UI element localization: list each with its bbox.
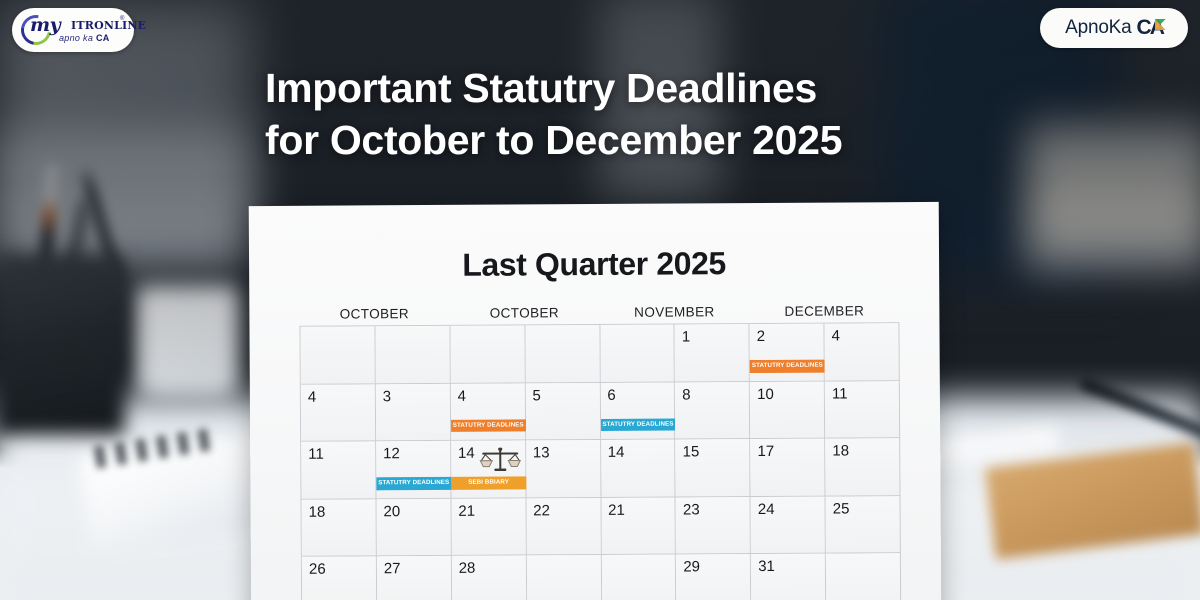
calendar-day-cell[interactable]: 23 [676, 497, 751, 555]
calendar-day-number: 4 [832, 328, 840, 345]
calendar-week-row: 12STATUTRY DEADLINES4 [300, 323, 899, 384]
logo-word-my: my [30, 14, 60, 36]
calendar-month-header: OCTOBER [299, 306, 449, 322]
calendar-day-number: 26 [309, 561, 326, 578]
calendar-day-cell[interactable]: 26 [302, 556, 377, 600]
calendar-day-number: 14 [608, 444, 625, 461]
calendar-day-number: 15 [683, 443, 700, 460]
page-title-line-1: Important Statutry Deadlines [265, 62, 965, 114]
calendar-day-cell[interactable]: 17 [750, 439, 825, 497]
calendar-day-cell[interactable] [525, 325, 600, 383]
calendar-month-header: NOVEMBER [599, 304, 749, 320]
page-title-line-2: for October to December 2025 [265, 114, 965, 166]
calendar-day-number: 1 [682, 328, 690, 345]
calendar-week-row: 434STATUTRY DEADLINES56STATUTRY DEADLINE… [301, 381, 900, 442]
calendar-day-number: 31 [758, 558, 775, 575]
calendar-day-cell[interactable]: 5 [525, 382, 600, 440]
deadline-badge[interactable]: STATUTRY DEADLINES [750, 360, 825, 373]
calendar-day-cell[interactable]: 4STATUTRY DEADLINES [451, 383, 526, 441]
myitronline-logo[interactable]: my ITRONLINE ® apno ka CA [12, 8, 134, 52]
calendar-day-number: 25 [833, 500, 850, 517]
calendar-day-cell[interactable]: 2STATUTRY DEADLINES [750, 324, 825, 382]
calendar-grid: 12STATUTRY DEADLINES4434STATUTRY DEADLIN… [299, 322, 901, 600]
calendar-day-cell[interactable]: 28 [452, 555, 527, 600]
calendar-day-number: 18 [309, 503, 326, 520]
calendar-day-number: 24 [758, 500, 775, 517]
calendar-day-cell[interactable]: 8 [675, 382, 750, 440]
logo-tagline: apno ka CA [59, 33, 110, 43]
calendar-day-number: 21 [608, 501, 625, 518]
calendar-day-cell[interactable]: 21 [601, 497, 676, 555]
calendar-day-cell[interactable] [450, 325, 525, 383]
calendar-day-number: 4 [458, 387, 466, 404]
calendar-day-cell[interactable]: 11 [301, 441, 376, 499]
calendar-day-number: 6 [607, 386, 615, 403]
calendar-day-number: 11 [308, 446, 324, 463]
calendar-day-cell[interactable]: 18 [825, 438, 900, 496]
registered-mark-icon: ® [120, 16, 124, 22]
calendar-day-cell[interactable] [375, 326, 450, 384]
calendar-day-number: 2 [757, 328, 765, 345]
calendar-day-cell[interactable]: 21 [451, 498, 526, 556]
page-title: Important Statutry Deadlines for October… [265, 62, 965, 167]
calendar-day-cell[interactable]: 6STATUTRY DEADLINES [600, 382, 675, 440]
calendar-day-number: 22 [533, 502, 550, 519]
calendar-day-cell[interactable]: 27 [377, 556, 452, 600]
apnokaca-ca-monogram-icon: CA [1137, 16, 1163, 40]
calendar-day-cell[interactable]: 4 [825, 323, 900, 381]
logo-tagline-ca: CA [96, 33, 110, 43]
calendar-day-number: 20 [383, 503, 400, 520]
calendar-day-cell[interactable] [601, 555, 676, 600]
deadline-badge[interactable]: STATUTRY DEADLINES [376, 477, 451, 490]
calendar-day-number: 18 [832, 442, 849, 459]
calendar-day-cell[interactable] [300, 326, 375, 384]
calendar-day-number: 14 [458, 445, 475, 462]
calendar-day-number: 12 [383, 445, 400, 462]
calendar-day-number: 23 [683, 501, 700, 518]
calendar-day-cell[interactable] [600, 325, 675, 383]
logo-tagline-prefix: apno ka [59, 33, 96, 43]
calendar-day-cell[interactable]: 1 [675, 324, 750, 382]
calendar-day-cell[interactable]: 3 [376, 383, 451, 441]
calendar-day-number: 29 [683, 558, 700, 575]
calendar-day-cell[interactable]: 29 [676, 554, 751, 600]
deadline-badge[interactable]: STATUTRY DEADLINES [451, 419, 526, 432]
calendar-month-header: OCTOBER [449, 305, 599, 321]
calendar-month-header: DECEMBER [749, 303, 899, 319]
deadline-badge[interactable]: STATUTRY DEADLINES [601, 418, 676, 431]
calendar-week-row: 1112STATUTRY DEADLINES14SEBI BBIARY13141… [301, 438, 900, 499]
calendar-day-cell[interactable]: 25 [826, 496, 901, 554]
calendar-day-cell[interactable]: 14 [601, 440, 676, 498]
calendar-day-cell[interactable]: 11 [825, 381, 900, 439]
calendar-day-number: 21 [458, 502, 475, 519]
calendar-day-cell[interactable]: 31 [751, 554, 826, 600]
calendar-day-number: 3 [383, 388, 391, 405]
calendar-title: Last Quarter 2025 [249, 244, 939, 285]
calendar-day-cell[interactable]: 24 [751, 496, 826, 554]
calendar-day-cell[interactable]: 13 [526, 440, 601, 498]
calendar-day-cell[interactable]: 15 [676, 439, 751, 497]
calendar-card: Last Quarter 2025 OCTOBEROCTOBERNOVEMBER… [249, 202, 942, 600]
calendar-day-cell[interactable] [826, 553, 901, 600]
calendar-day-number: 4 [308, 388, 316, 405]
calendar-day-cell[interactable]: 18 [302, 499, 377, 557]
calendar-day-number: 8 [682, 386, 690, 403]
calendar-day-number: 28 [459, 560, 476, 577]
logo-word-itronline: ITRONLINE [71, 19, 146, 32]
calendar-day-cell[interactable] [526, 555, 601, 600]
calendar-day-cell[interactable]: 4 [301, 384, 376, 442]
apnokaca-wordmark: ApnoKa [1065, 17, 1131, 39]
calendar-day-number: 13 [533, 444, 550, 461]
calendar-day-number: 10 [757, 385, 774, 402]
calendar-day-number: 27 [384, 560, 401, 577]
deadline-badge[interactable]: SEBI BBIARY [451, 477, 526, 490]
apnokaca-logo[interactable]: ApnoKa CA [1040, 8, 1188, 48]
scales-of-justice-icon [478, 447, 522, 477]
calendar-day-number: 11 [832, 385, 848, 402]
calendar-day-number: 17 [757, 443, 774, 460]
calendar-month-headers: OCTOBEROCTOBERNOVEMBERDECEMBER [299, 303, 899, 322]
calendar-day-cell[interactable]: 12STATUTRY DEADLINES [376, 441, 451, 499]
calendar-day-cell[interactable]: 14SEBI BBIARY [451, 440, 526, 498]
calendar-day-cell[interactable]: 20 [376, 498, 451, 556]
calendar-week-row: 2627282931 [302, 553, 901, 600]
calendar-week-row: 1820212221232425 [302, 496, 901, 557]
calendar-day-number: 5 [532, 387, 540, 404]
calendar-day-cell[interactable]: 22 [526, 497, 601, 555]
calendar-day-cell[interactable]: 10 [750, 381, 825, 439]
